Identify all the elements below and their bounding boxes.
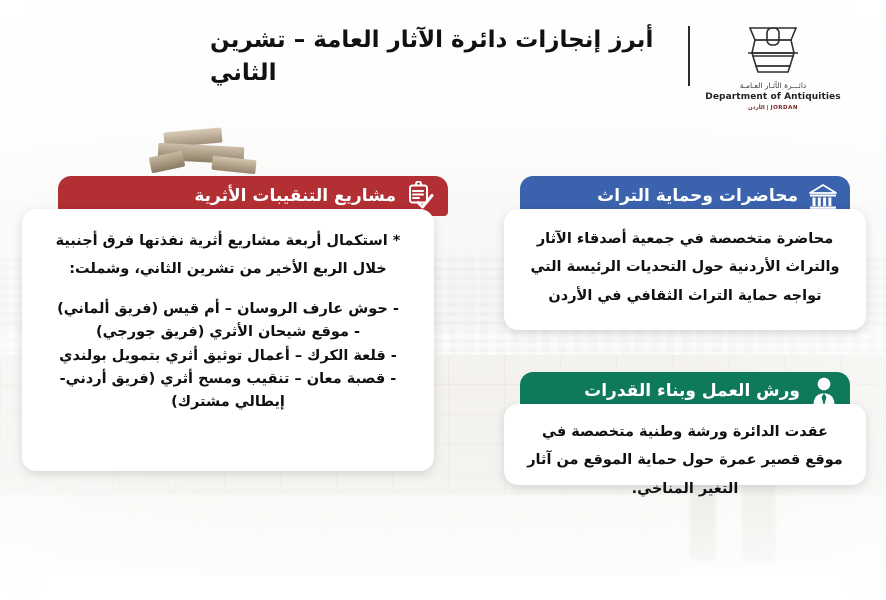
list-item: - قصبة معان – تنقيب ومسح أثري (فريق أردن…: [44, 368, 412, 415]
trainer-person-icon: [810, 376, 838, 406]
card-body-workshops: عقدت الدائرة ورشة وطنية متخصصة في موقع ق…: [504, 404, 866, 485]
spacer: [44, 284, 412, 298]
workshops-body-text: عقدت الدائرة ورشة وطنية متخصصة في موقع ق…: [524, 418, 846, 503]
title-divider: [688, 26, 690, 86]
list-item: - قلعة الكرك – أعمال توثيق أثري بتمويل ب…: [44, 345, 412, 368]
clipboard-check-icon: [406, 181, 436, 211]
ruin-stone: [149, 151, 186, 174]
ruins-decoration: [150, 128, 260, 176]
card-title-lectures: محاضرات وحماية التراث: [597, 186, 798, 206]
card-title-workshops: ورش العمل وبناء القدرات: [584, 381, 800, 401]
museum-building-icon: [808, 182, 838, 210]
card-body-lectures: محاضرة متخصصة في جمعية أصدقاء الآثار وال…: [504, 209, 866, 330]
department-logo: دائـــرة الآثـار العـامـة Department of …: [698, 22, 848, 111]
excavations-project-list: - حوش عارف الروسان – أم قيس (فريق ألماني…: [44, 298, 412, 415]
page-header: أبرز إنجازات دائرة الآثار العامة – تشرين…: [0, 0, 886, 120]
infographic-canvas: أبرز إنجازات دائرة الآثار العامة – تشرين…: [0, 0, 886, 600]
list-item: - موقع شيحان الأثري (فريق جورجي): [44, 321, 412, 344]
logo-arabic-name: دائـــرة الآثـار العـامـة: [698, 81, 848, 90]
page-title: أبرز إنجازات دائرة الآثار العامة – تشرين…: [210, 24, 680, 91]
list-item: - حوش عارف الروسان – أم قيس (فريق ألماني…: [44, 298, 412, 321]
ruin-stone: [211, 156, 256, 175]
logo-country: الأردن | JORDAN: [698, 105, 848, 111]
logo-english-name: Department of Antiquities: [698, 92, 848, 102]
antiquities-vessel-logo-icon: [698, 22, 848, 78]
lectures-body-text: محاضرة متخصصة في جمعية أصدقاء الآثار وال…: [524, 225, 846, 310]
bottom-rounded-mask: [0, 576, 886, 600]
excavations-intro-text: * استكمال أربعة مشاريع أثرية نفذتها فرق …: [44, 227, 412, 284]
card-body-excavations: * استكمال أربعة مشاريع أثرية نفذتها فرق …: [22, 209, 434, 471]
page-title-text: أبرز إنجازات دائرة الآثار العامة – تشرين…: [210, 24, 680, 91]
card-title-excavations: مشاريع التنقيبات الأثرية: [194, 186, 396, 206]
